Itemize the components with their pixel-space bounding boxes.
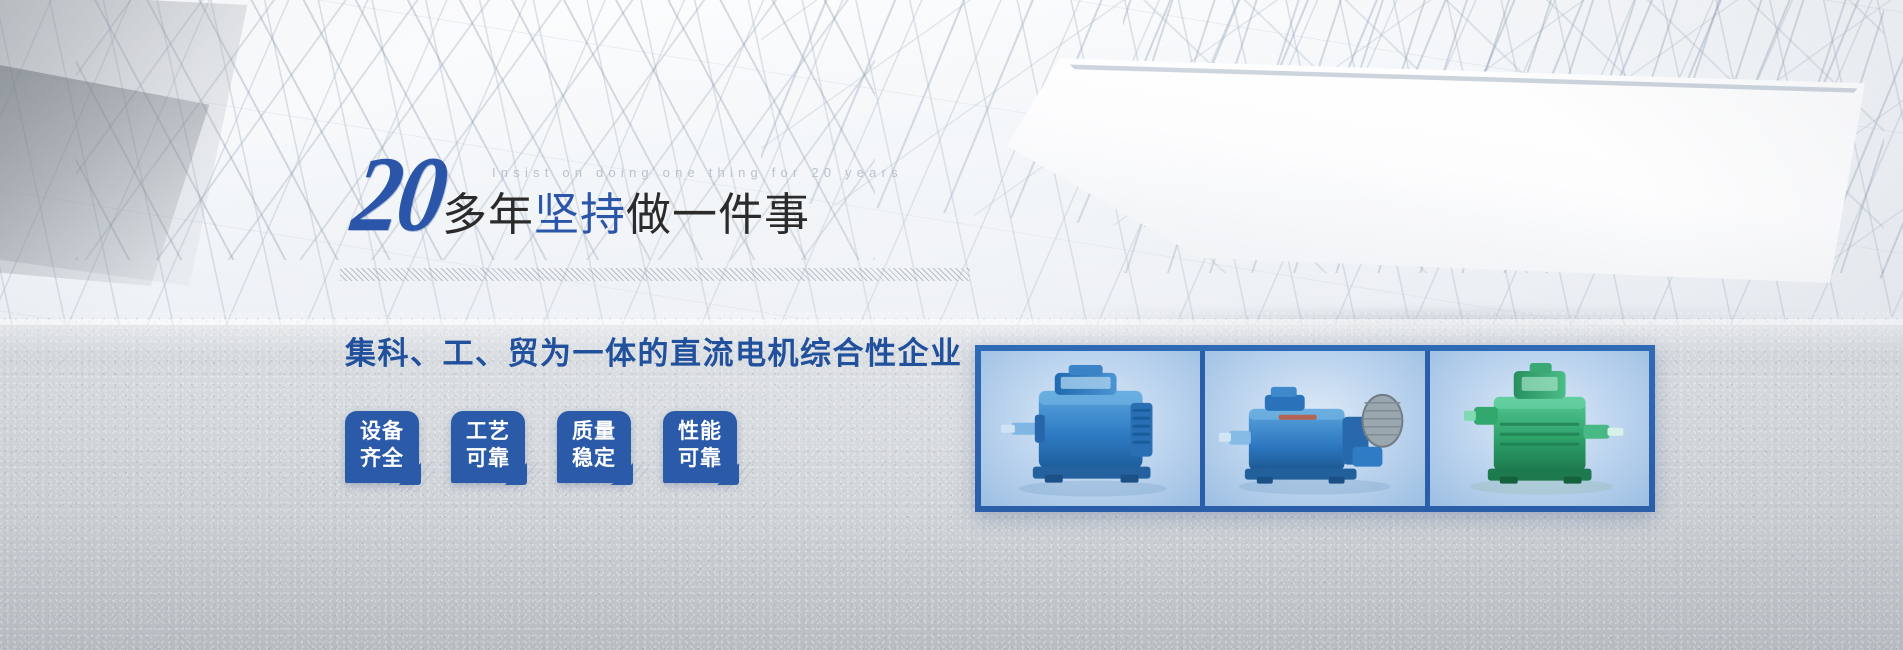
headline-cn-before: 多年 xyxy=(442,189,534,240)
badge-corner-icon xyxy=(717,463,739,485)
hatched-divider xyxy=(340,268,970,281)
badge-performance[interactable]: 性能 可靠 xyxy=(663,411,737,483)
product-cell-3[interactable] xyxy=(1430,351,1649,506)
product-cell-2[interactable] xyxy=(1205,351,1424,506)
dc-motor-blue-large-icon xyxy=(981,351,1200,506)
badge-craft[interactable]: 工艺 可靠 xyxy=(451,411,525,483)
badge-equipment[interactable]: 设备 齐全 xyxy=(345,411,419,483)
headline-cn-highlight: 坚持 xyxy=(534,189,626,240)
hero-banner: Insist on doing one thing for 20 years 2… xyxy=(0,0,1903,650)
product-gallery xyxy=(975,345,1655,512)
badge-line-2: 可靠 xyxy=(466,446,510,473)
badge-corner-icon xyxy=(611,463,633,485)
badge-line-2: 稳定 xyxy=(572,446,616,473)
badge-quality[interactable]: 质量 稳定 xyxy=(557,411,631,483)
badge-line-1: 质量 xyxy=(572,419,616,446)
badge-line-1: 工艺 xyxy=(466,419,510,446)
banner-content: Insist on doing one thing for 20 years 2… xyxy=(0,0,1903,650)
dc-motor-blue-blower-icon xyxy=(1205,351,1424,506)
headline-cn-after: 做一件事 xyxy=(626,189,810,240)
headline: 20 多年坚持做一件事 xyxy=(348,160,810,239)
headline-chinese: 多年坚持做一件事 xyxy=(442,192,810,237)
product-cell-1[interactable] xyxy=(981,351,1200,506)
badge-line-1: 性能 xyxy=(678,419,722,446)
headline-number: 20 xyxy=(348,151,448,239)
badge-line-2: 可靠 xyxy=(678,446,722,473)
badge-corner-icon xyxy=(399,463,421,485)
feature-badges: 设备 齐全 工艺 可靠 质量 稳定 xyxy=(345,411,737,483)
subtitle: 集科、工、贸为一体的直流电机综合性企业 xyxy=(345,328,963,373)
badge-line-2: 齐全 xyxy=(360,446,404,473)
badge-corner-icon xyxy=(505,463,527,485)
dc-motor-green-icon xyxy=(1430,351,1649,506)
badge-line-1: 设备 xyxy=(360,419,404,446)
